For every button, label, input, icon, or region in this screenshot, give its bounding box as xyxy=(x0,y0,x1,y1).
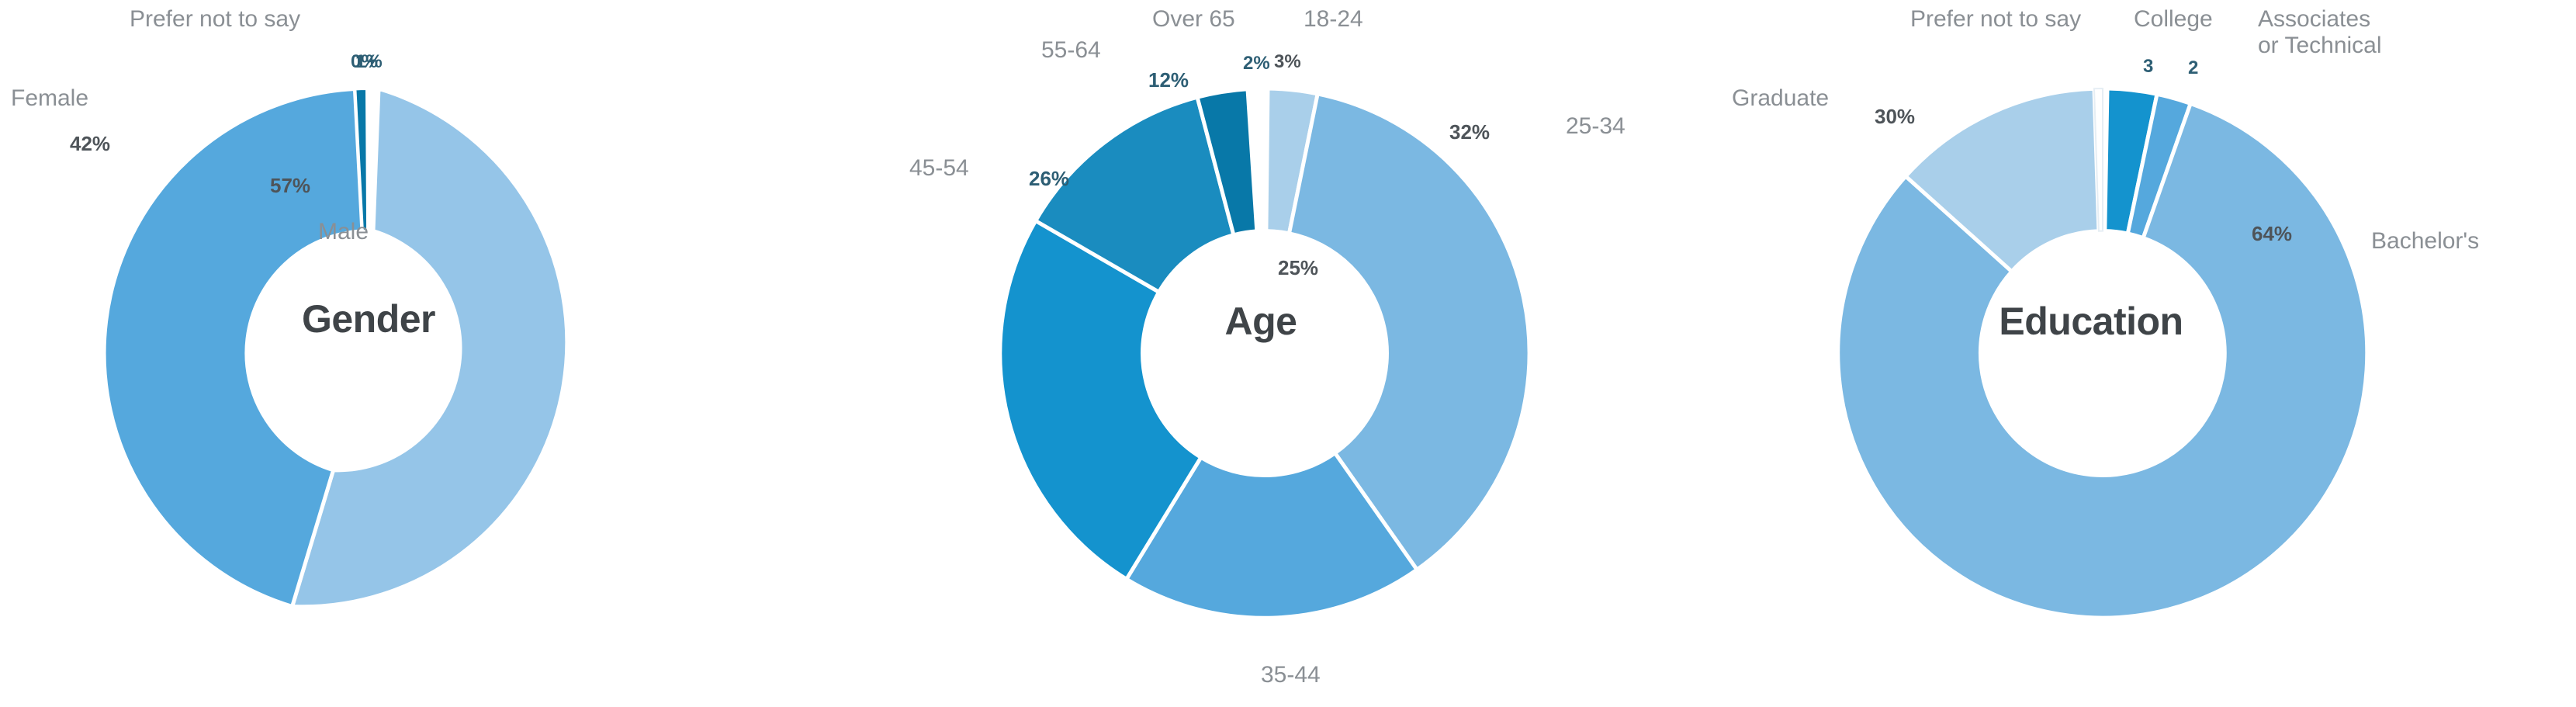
gender-donut-svg xyxy=(0,0,815,707)
education-label-associates-or-technical: Associates or Technical xyxy=(2258,6,2382,58)
demographics-donut-charts-row: Gender Prefer not to say Female Male 42%… xyxy=(0,0,2576,707)
education-center-title: Education xyxy=(1913,299,2270,344)
gender-value-prefer-not-to-say: 1% xyxy=(355,51,383,73)
education-value-graduate: 30% xyxy=(1875,105,1915,129)
age-value-35-44: 25% xyxy=(1278,256,1318,280)
education-chart-panel: Education Prefer not to say College Asso… xyxy=(1723,0,2537,707)
gender-value-male: 57% xyxy=(270,174,310,198)
age-donut-svg xyxy=(892,0,1707,707)
age-center-title: Age xyxy=(1098,299,1424,344)
age-value-25-34: 32% xyxy=(1449,120,1490,144)
gender-label-female: Female xyxy=(11,85,88,112)
gender-chart-panel: Gender Prefer not to say Female Male 42%… xyxy=(0,0,815,707)
age-label-18-24: 18-24 xyxy=(1304,6,1363,33)
education-label-prefer-not-to-say: Prefer not to say xyxy=(1910,6,2081,33)
gender-center-title: Gender xyxy=(206,296,531,341)
age-label-55-64: 55-64 xyxy=(1041,37,1101,64)
age-value-45-54: 26% xyxy=(1029,167,1069,191)
age-value-55-64: 12% xyxy=(1148,68,1189,92)
age-label-35-44: 35-44 xyxy=(1261,662,1321,688)
education-donut-wrap: Education Prefer not to say College Asso… xyxy=(1723,0,2537,707)
age-donut-wrap: Age Over 65 18-24 55-64 45-54 35-44 25-3… xyxy=(892,0,1707,707)
gender-label-prefer-not-to-say: Prefer not to say xyxy=(130,6,300,33)
age-value-18-24: 3% xyxy=(1274,51,1301,73)
gender-donut-wrap: Gender Prefer not to say Female Male 42%… xyxy=(0,0,815,707)
age-label-25-34: 25-34 xyxy=(1566,113,1626,140)
education-donut-svg xyxy=(1723,0,2537,707)
education-label-bachelors: Bachelor's xyxy=(2371,228,2479,255)
gender-value-female: 42% xyxy=(70,132,110,156)
education-value-bachelors: 64% xyxy=(2252,222,2292,246)
age-label-45-54: 45-54 xyxy=(909,155,969,182)
education-value-associates: 2 xyxy=(2188,57,2198,79)
education-value-college: 3 xyxy=(2143,56,2153,78)
education-label-college: College xyxy=(2134,6,2213,33)
age-label-over-65: Over 65 xyxy=(1152,6,1235,33)
age-value-over-65: 2% xyxy=(1243,53,1270,75)
education-label-graduate: Graduate xyxy=(1732,85,1829,112)
age-chart-panel: Age Over 65 18-24 55-64 45-54 35-44 25-3… xyxy=(892,0,1707,707)
gender-label-male: Male xyxy=(318,219,369,245)
